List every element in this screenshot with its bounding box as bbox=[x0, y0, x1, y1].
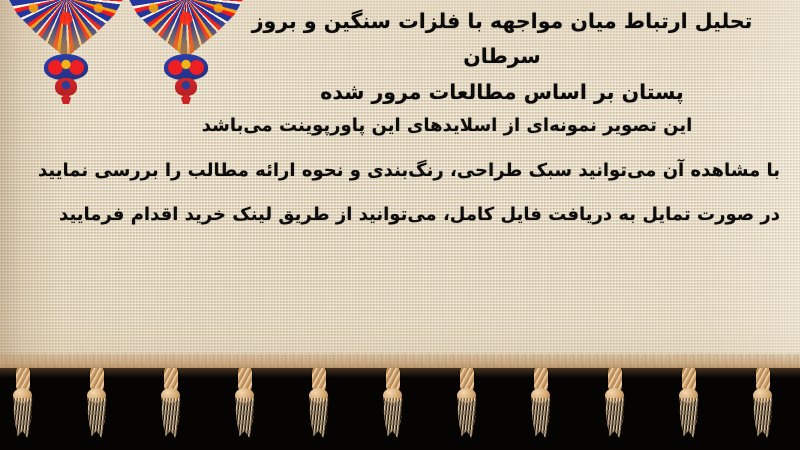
fringe-tassel bbox=[454, 368, 480, 438]
tassel-threads-icon bbox=[678, 398, 700, 438]
fringe-tassel bbox=[676, 368, 702, 438]
carpet-fringe bbox=[0, 368, 800, 450]
tassel-threads-icon bbox=[530, 398, 552, 438]
fringe-tassel bbox=[602, 368, 628, 438]
fringe-tassel bbox=[84, 368, 110, 438]
tassel-threads-icon bbox=[308, 398, 330, 438]
slide-body-text: این تصویر نمونه‌ای از اسلایدهای این پاور… bbox=[18, 104, 780, 238]
tassel-threads-icon bbox=[456, 398, 478, 438]
tassel-threads-icon bbox=[234, 398, 256, 438]
tassel-threads-icon bbox=[160, 398, 182, 438]
tassel-threads-icon bbox=[752, 398, 774, 438]
fringe-tassel bbox=[10, 368, 36, 438]
tassel-threads-icon bbox=[12, 398, 34, 438]
body-line-design-review: با مشاهده آن می‌توانید سبک طراحی، رنگ‌بن… bbox=[18, 149, 780, 194]
body-line-sample-notice: این تصویر نمونه‌ای از اسلایدهای این پاور… bbox=[18, 104, 780, 149]
fringe-tassel bbox=[158, 368, 184, 438]
body-line-purchase-link: در صورت تمایل به دریافت فایل کامل، می‌تو… bbox=[18, 193, 780, 238]
fringe-tassel bbox=[528, 368, 554, 438]
slide-title-line-1: تحلیل ارتباط میان مواجهه با فلزات سنگین … bbox=[222, 4, 782, 75]
fringe-tassel bbox=[750, 368, 776, 438]
slide-title: تحلیل ارتباط میان مواجهه با فلزات سنگین … bbox=[222, 4, 782, 110]
tassel-threads-icon bbox=[86, 398, 108, 438]
slide-canvas: تحلیل ارتباط میان مواجهه با فلزات سنگین … bbox=[0, 0, 800, 450]
fringe-tassel bbox=[232, 368, 258, 438]
fringe-tassel bbox=[306, 368, 332, 438]
tassel-threads-icon bbox=[604, 398, 626, 438]
fringe-tassel bbox=[380, 368, 406, 438]
tassel-threads-icon bbox=[382, 398, 404, 438]
